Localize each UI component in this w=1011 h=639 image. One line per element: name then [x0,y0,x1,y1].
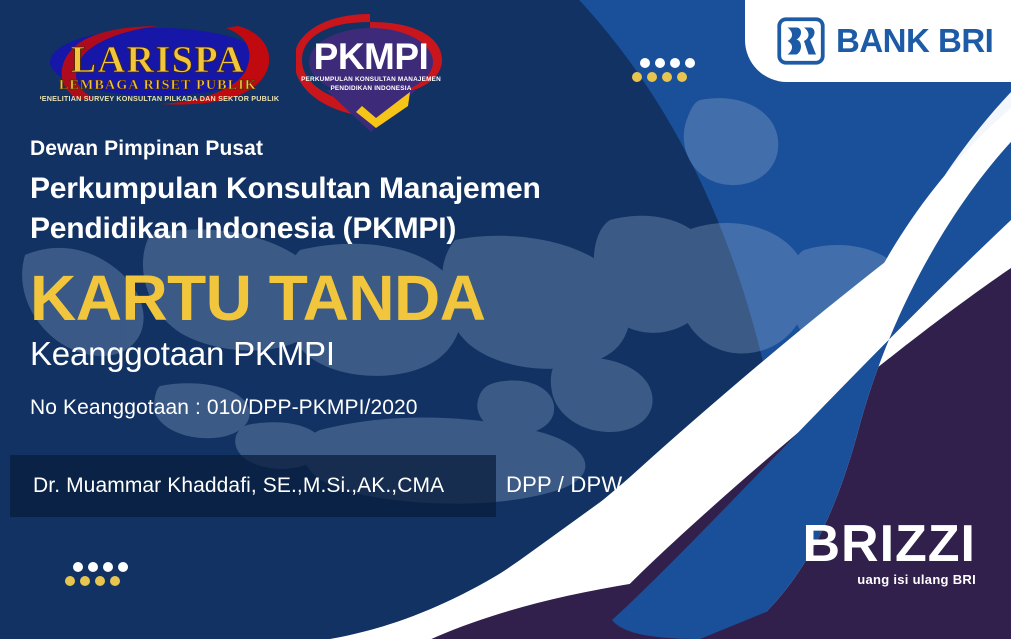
larispa-logo-graphic: LARISPA LEMBAGA RISET PUBLIK PENELITIAN … [40,22,280,110]
larispa-line2: LEMBAGA RISET PUBLIK [59,78,257,93]
member-scope: DPP / DPW [506,472,622,498]
membership-number: No Keanggotaan : 010/DPP-PKMPI/2020 [30,396,670,420]
dot [647,72,657,82]
dot [110,576,120,586]
bank-bri-logo: BANK BRI [745,0,1011,82]
dot-row-white [73,562,133,572]
member-name-bar: Dr. Muammar Khaddafi, SE.,M.Si.,AK.,CMA [10,455,496,517]
larispa-logo: LARISPA LEMBAGA RISET PUBLIK PENELITIAN … [40,22,280,110]
dot-row-gold [632,72,700,82]
dot [677,72,687,82]
dot [88,562,98,572]
org-name: Perkumpulan Konsultan Manajemen Pendidik… [30,169,670,249]
dot-row-white [640,58,700,68]
pkmpi-logo-graphic: PKMPI PERKUMPULAN KONSULTAN MANAJEMEN PE… [296,12,446,134]
dot [655,58,665,68]
dot [685,58,695,68]
dot [662,72,672,82]
org-name-line1: Perkumpulan Konsultan Manajemen [30,169,670,209]
dot [65,576,75,586]
dot [95,576,105,586]
card-subtitle: Keanggotaan PKMPI [30,334,670,374]
dot [632,72,642,82]
brizzi-tagline: uang isi ulang BRI [802,572,976,587]
pkmpi-acronym: PKMPI [314,36,429,77]
bri-mark-icon [777,17,825,65]
dot [73,562,83,572]
card-title: KARTU TANDA [30,265,670,332]
pkmpi-line1: PERKUMPULAN KONSULTAN MANAJEMEN [301,76,441,83]
larispa-name: LARISPA [71,39,246,81]
bank-bri-label: BANK BRI [836,22,993,60]
dot-cluster-bottom [65,562,133,586]
dot [640,58,650,68]
pkmpi-logo: PKMPI PERKUMPULAN KONSULTAN MANAJEMEN PE… [296,12,446,134]
member-name: Dr. Muammar Khaddafi, SE.,M.Si.,AK.,CMA [33,474,444,498]
larispa-tagline: PENELITIAN SURVEY KONSULTAN PILKADA DAN … [40,94,280,103]
dot-row-gold [65,576,133,586]
pkmpi-line2: PENDIDIKAN INDONESIA [330,85,411,92]
dot [118,562,128,572]
membership-card: BANK BRI LARISPA LEMBAGA RISET PUBLIK PE… [0,0,1011,639]
org-subtitle: Dewan Pimpinan Pusat [30,136,670,161]
card-text-block: Dewan Pimpinan Pusat Perkumpulan Konsult… [30,136,670,420]
dot-cluster-top [632,58,700,82]
brizzi-wordmark: BRIZZI [802,518,976,570]
org-name-line2: Pendidikan Indonesia (PKMPI) [30,209,670,249]
brizzi-logo: BRIZZI uang isi ulang BRI [802,518,976,587]
dot [103,562,113,572]
dot [670,58,680,68]
dot [80,576,90,586]
